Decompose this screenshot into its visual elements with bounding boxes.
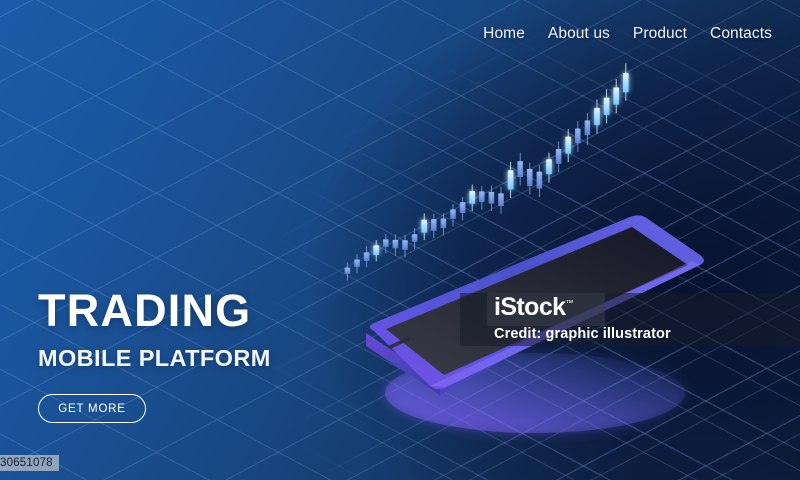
page-title: TRADING <box>38 288 271 333</box>
candle-body <box>431 219 437 231</box>
istock-logo-text: iStock <box>494 293 565 321</box>
nav-item-contacts[interactable]: Contacts <box>710 25 772 43</box>
main-navigation: Home About us Product Contacts <box>483 25 772 43</box>
candle-body <box>575 128 581 143</box>
candle-body <box>498 193 504 206</box>
trademark-icon: ™ <box>565 299 572 308</box>
candle-body <box>441 219 447 229</box>
candle-body <box>489 192 495 204</box>
nav-item-product[interactable]: Product <box>633 25 687 43</box>
candle-series <box>345 63 629 280</box>
candle-body <box>613 88 619 105</box>
candle-body <box>479 191 485 202</box>
watermark-credit: Credit: graphic illustrator <box>494 326 671 342</box>
candlestick-chart <box>336 140 666 300</box>
page-subtitle: MOBILE PLATFORM <box>38 345 271 372</box>
get-more-button[interactable]: GET MORE <box>38 394 146 423</box>
candle-body <box>393 240 399 249</box>
hero-section: TRADING MOBILE PLATFORM GET MORE <box>38 288 271 423</box>
candle-body <box>383 239 389 246</box>
candle-body <box>604 98 610 115</box>
nav-item-home[interactable]: Home <box>483 25 525 43</box>
candle-body <box>402 240 408 250</box>
candle-body <box>585 120 591 135</box>
candle-body <box>517 161 523 177</box>
candle-body <box>527 169 533 186</box>
candle-body <box>421 220 427 233</box>
candle-body <box>556 149 562 164</box>
candle-body <box>373 245 379 255</box>
landing-page-stage: Home About us Product Contacts <box>0 0 800 480</box>
candle-body <box>354 259 360 266</box>
candle-body <box>364 252 370 261</box>
candle-body <box>450 209 456 219</box>
asset-id-badge: 30651078 <box>0 455 59 471</box>
istock-logo: iStock™ <box>494 295 573 320</box>
candle-body <box>537 172 543 189</box>
candle-body <box>623 73 629 92</box>
candle-body <box>469 191 475 204</box>
candle-body <box>345 268 351 274</box>
nav-item-about-us[interactable]: About us <box>548 25 610 43</box>
candle-body <box>546 159 552 174</box>
candle-body <box>508 170 514 189</box>
candle-body <box>565 137 571 154</box>
candle-body <box>412 234 418 241</box>
candle-body <box>460 202 466 213</box>
candle-body <box>594 108 600 125</box>
